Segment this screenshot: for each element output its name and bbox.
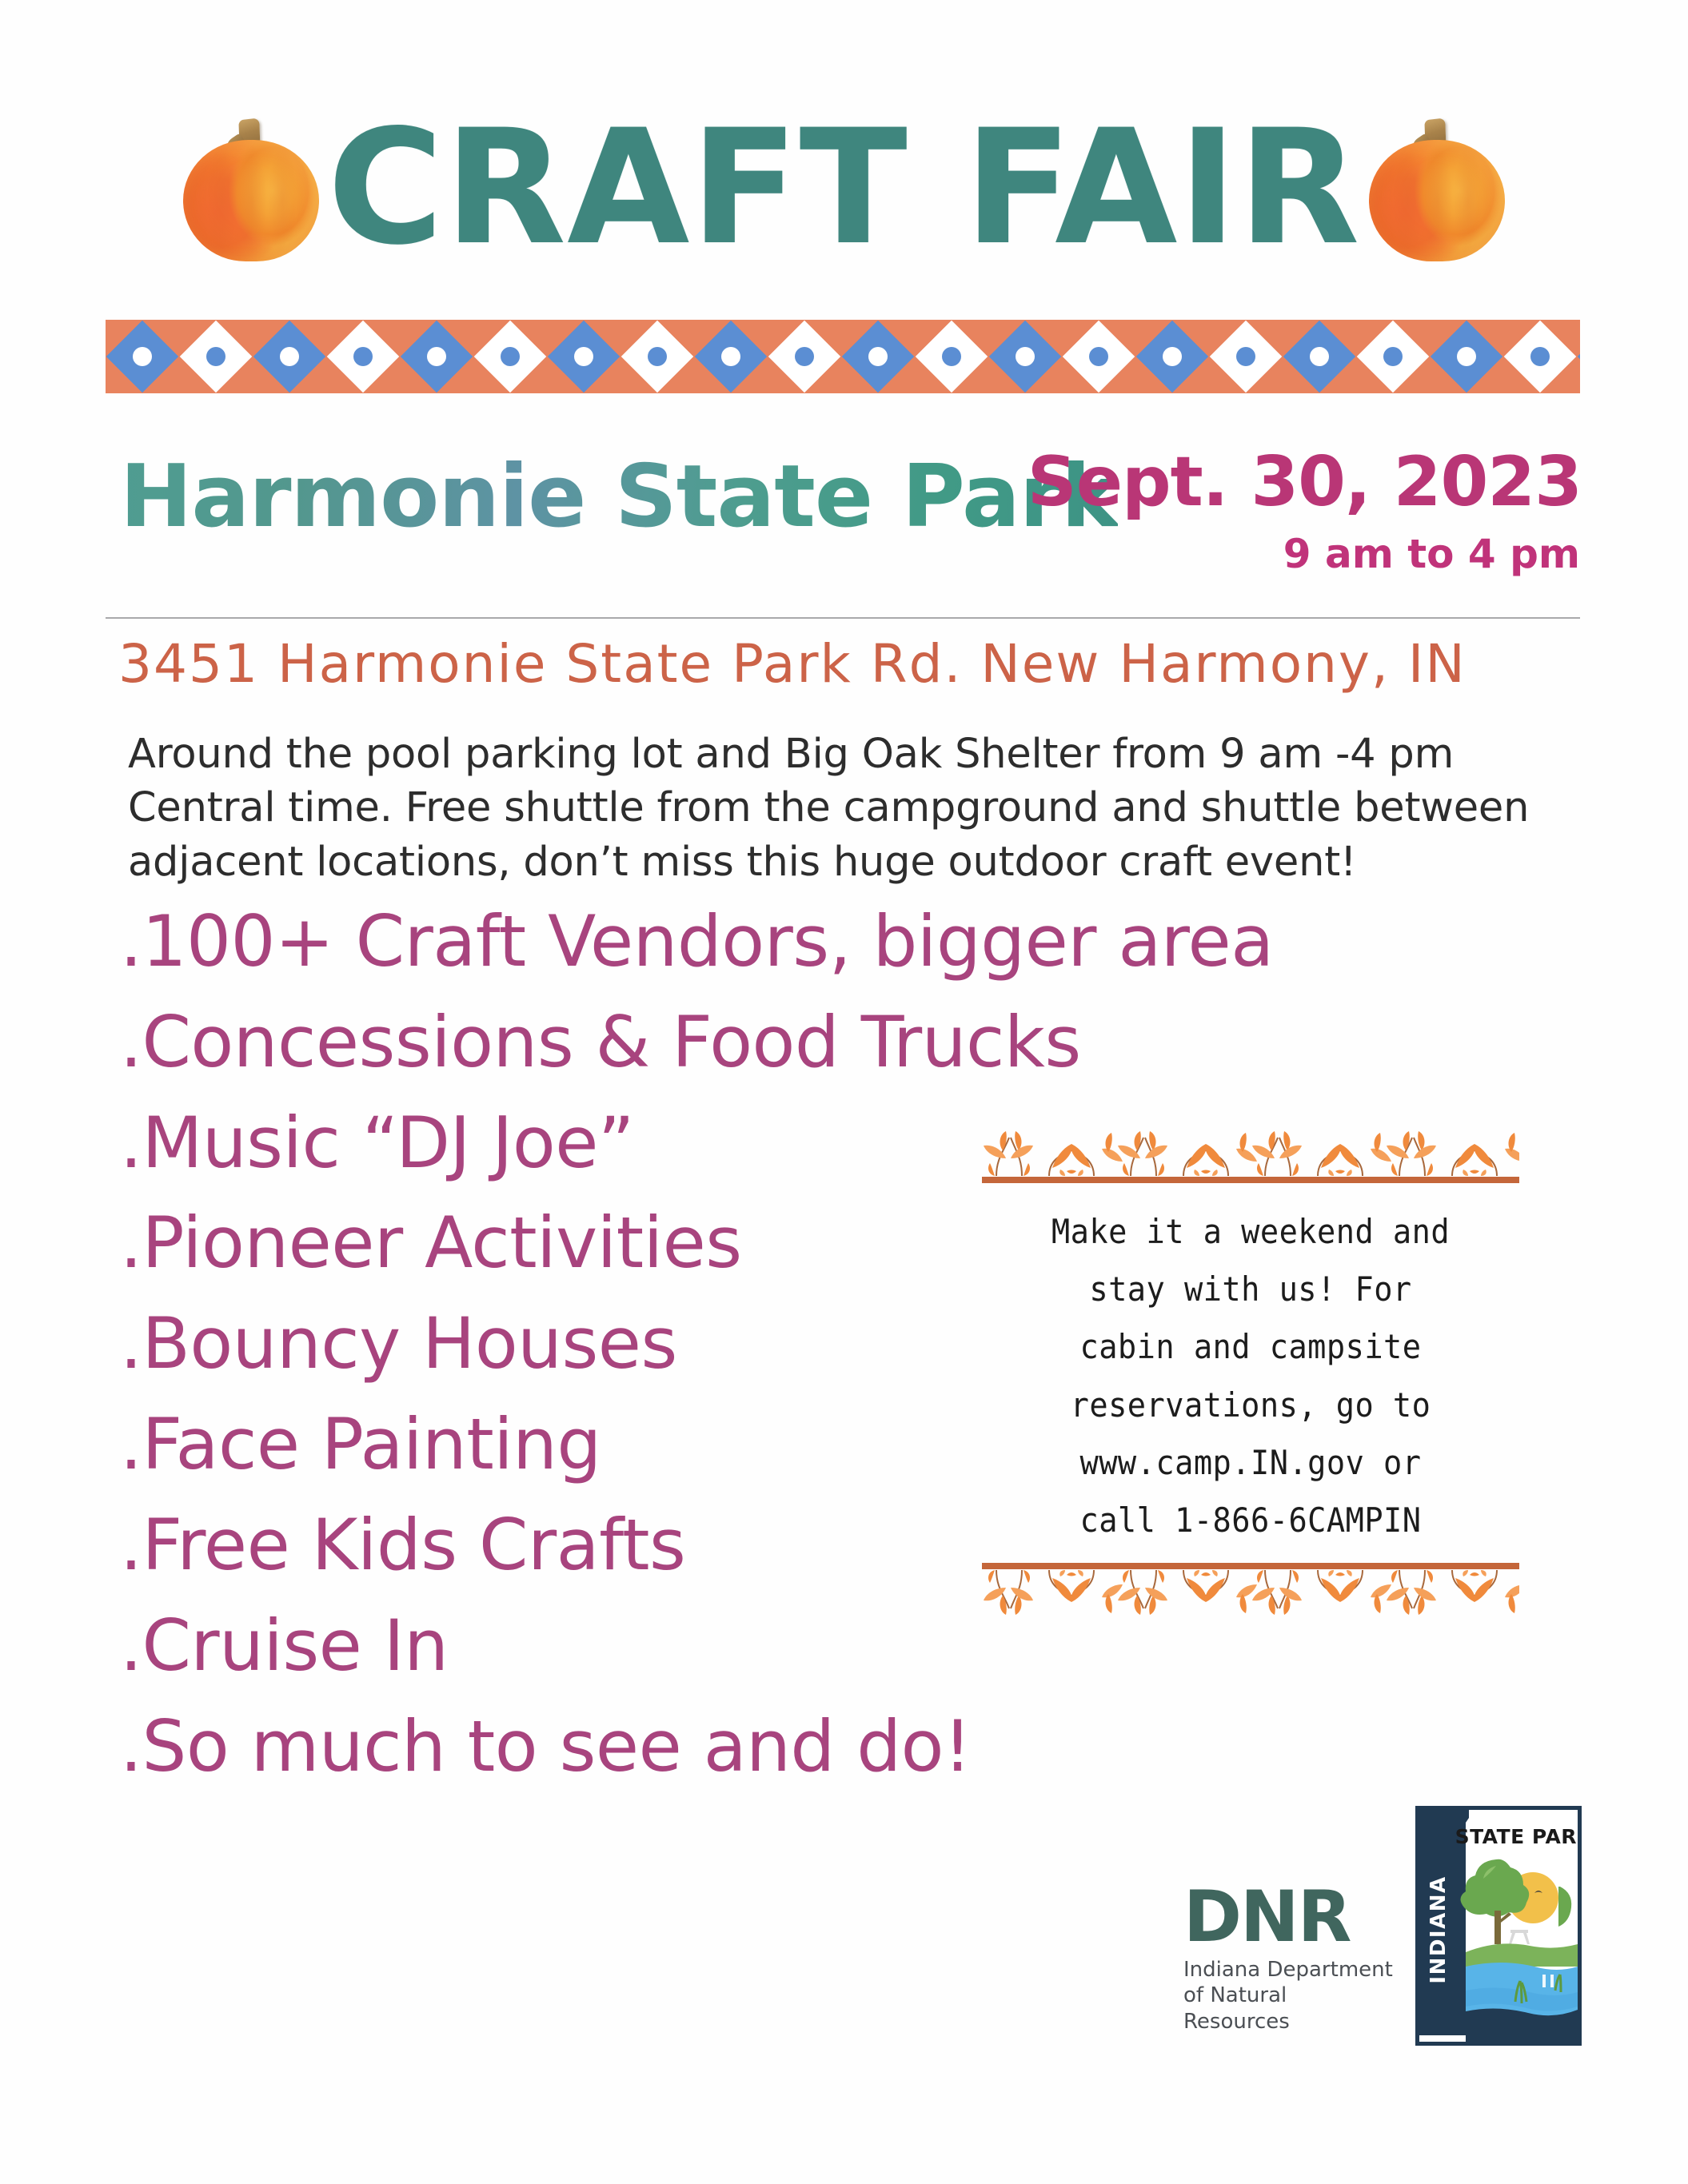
diamond-shape bbox=[1578, 321, 1580, 393]
indiana-state-parks-badge: INDIANA STATE PARKS bbox=[1415, 1806, 1582, 2046]
badge-state-label: INDIANA bbox=[1427, 1875, 1451, 1983]
feature-item: .Free Kids Crafts bbox=[120, 1495, 1095, 1596]
band-diamond bbox=[547, 320, 621, 393]
logo-group: DNR Indiana Department of Natural Resour… bbox=[1175, 1795, 1671, 2082]
pumpkin-icon-right bbox=[1366, 113, 1508, 263]
diamond-dot bbox=[795, 347, 814, 366]
band-diamond bbox=[988, 320, 1062, 393]
band-diamond bbox=[179, 320, 253, 393]
diamond-dot bbox=[1089, 347, 1108, 366]
event-date: Sept. 30, 2023 bbox=[1028, 448, 1582, 516]
feature-item: .Bouncy Houses bbox=[120, 1293, 1095, 1394]
diamond-dot bbox=[721, 347, 740, 366]
camping-line: cabin and campsite bbox=[1004, 1318, 1498, 1376]
diamond-dot bbox=[427, 347, 446, 366]
band-diamond bbox=[1283, 320, 1356, 393]
band-diamond bbox=[253, 320, 326, 393]
pumpkin-rib bbox=[1393, 145, 1422, 258]
band-diamond bbox=[473, 320, 547, 393]
pumpkin-rib bbox=[1423, 145, 1452, 258]
diamond-dot bbox=[648, 347, 667, 366]
diamond-dot bbox=[501, 347, 520, 366]
band-diamond bbox=[768, 320, 841, 393]
diamond-dot bbox=[1383, 347, 1403, 366]
event-description: Around the pool parking lot and Big Oak … bbox=[128, 727, 1575, 889]
band-diamond bbox=[106, 320, 179, 393]
band-diamond bbox=[841, 320, 915, 393]
feature-item: .Cruise In bbox=[120, 1596, 1095, 1696]
band-diamond bbox=[1503, 320, 1577, 393]
band-diamond bbox=[1135, 320, 1209, 393]
camping-line: Make it a weekend and bbox=[1004, 1203, 1498, 1261]
diamond-dot bbox=[868, 347, 888, 366]
feature-item: .Pioneer Activities bbox=[120, 1193, 1095, 1293]
diamond-dot bbox=[1530, 347, 1550, 366]
diamond-dot bbox=[133, 347, 152, 366]
dnr-acronym: DNR bbox=[1183, 1884, 1399, 1951]
diamond-dot bbox=[353, 347, 373, 366]
diamond-dot bbox=[1310, 347, 1329, 366]
feature-list: .100+ Craft Vendors, bigger area.Concess… bbox=[120, 891, 1095, 1796]
band-diamond bbox=[400, 320, 473, 393]
flyer-page: CRAFT FAIR Harmonie State Park Sept. 30,… bbox=[0, 0, 1688, 2184]
band-diamond bbox=[1577, 320, 1580, 393]
diamond-dot bbox=[1016, 347, 1035, 366]
feature-item: .So much to see and do! bbox=[120, 1696, 1095, 1797]
diamond-dot bbox=[1236, 347, 1255, 366]
divider-rule bbox=[106, 617, 1580, 619]
camping-line: stay with us! For bbox=[1004, 1261, 1498, 1318]
pumpkin-icon-left bbox=[180, 113, 322, 263]
decorative-diamond-band bbox=[106, 320, 1580, 393]
band-diamond bbox=[1062, 320, 1135, 393]
diamond-dot bbox=[1163, 347, 1182, 366]
band-diamond bbox=[694, 320, 768, 393]
band-diamond bbox=[326, 320, 400, 393]
title-row: CRAFT FAIR bbox=[0, 96, 1688, 280]
floral-ornament-icon-bottom bbox=[982, 1562, 1519, 1623]
pumpkin-rib bbox=[1454, 145, 1482, 258]
camping-line: www.camp.IN.gov or bbox=[1004, 1434, 1498, 1492]
band-diamond bbox=[1356, 320, 1430, 393]
floral-ornament-icon-top bbox=[982, 1123, 1519, 1184]
venue-name: Harmonie State Park bbox=[120, 454, 1118, 540]
feature-item: .100+ Craft Vendors, bigger area bbox=[120, 891, 1095, 992]
feature-item: .Music “DJ Joe” bbox=[120, 1093, 1095, 1194]
feature-item: .Face Painting bbox=[120, 1394, 1095, 1495]
feature-item: .Concessions & Food Trucks bbox=[120, 992, 1095, 1093]
dnr-subtitle-line1: Indiana Department bbox=[1183, 1957, 1399, 1983]
diamond-dot bbox=[280, 347, 299, 366]
camping-info-box: Make it a weekend andstay with us! Forca… bbox=[982, 1123, 1519, 1623]
band-diamond bbox=[1209, 320, 1283, 393]
event-header: Harmonie State Park Sept. 30, 2023 9 am … bbox=[112, 448, 1583, 608]
camping-line: call 1-866-6CAMPIN bbox=[1004, 1492, 1498, 1549]
band-diamond bbox=[621, 320, 694, 393]
dnr-logo: DNR Indiana Department of Natural Resour… bbox=[1183, 1884, 1399, 2035]
band-diamond bbox=[915, 320, 988, 393]
diamond-dot bbox=[1457, 347, 1476, 366]
camping-text: Make it a weekend andstay with us! Forca… bbox=[982, 1184, 1519, 1562]
camping-line: reservations, go to bbox=[1004, 1377, 1498, 1434]
event-hours: 9 am to 4 pm bbox=[1283, 534, 1580, 574]
badge-parks-label: STATE PARKS bbox=[1455, 1825, 1578, 1848]
diamond-dot bbox=[942, 347, 961, 366]
diamond-dot bbox=[574, 347, 593, 366]
event-address: 3451 Harmonie State Park Rd. New Harmony… bbox=[118, 632, 1598, 698]
diamond-dot bbox=[206, 347, 225, 366]
page-title: CRAFT FAIR bbox=[322, 109, 1365, 267]
band-diamond bbox=[1430, 320, 1503, 393]
dnr-subtitle-line2: of Natural Resources bbox=[1183, 1983, 1399, 2035]
